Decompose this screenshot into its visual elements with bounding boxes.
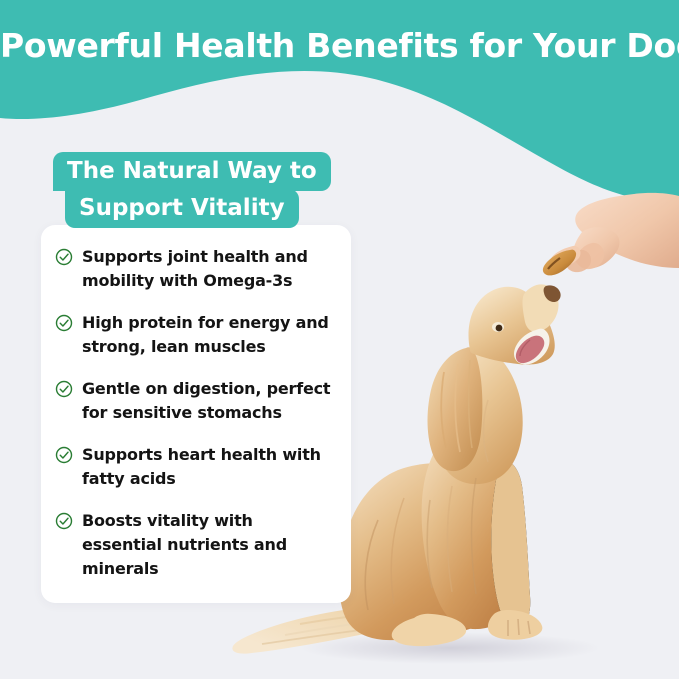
tail-strand-2 bbox=[285, 619, 398, 635]
badge-line-1: The Natural Way to bbox=[53, 152, 331, 191]
ear-strand-2 bbox=[455, 364, 460, 452]
dog-front-leg bbox=[491, 461, 530, 628]
page-title: Powerful Health Benefits for Your Dog bbox=[0, 24, 679, 68]
ear-strand-1 bbox=[441, 372, 446, 448]
dog-chest bbox=[422, 428, 525, 630]
dog-shadow bbox=[300, 632, 600, 664]
treat-detail bbox=[548, 258, 560, 269]
poster-stage: Powerful Health Benefits for Your Dog bbox=[0, 0, 679, 679]
dog-nose bbox=[544, 285, 561, 302]
list-item: Supports joint health and mobility with … bbox=[55, 245, 335, 293]
ear-strand-3 bbox=[469, 360, 472, 448]
tongue-crease bbox=[520, 340, 530, 356]
check-circle-icon bbox=[55, 248, 73, 266]
fur-strand-5 bbox=[391, 498, 404, 604]
hand-finger-2 bbox=[566, 250, 591, 272]
dog-head bbox=[469, 287, 555, 365]
dog-treat-icon bbox=[543, 250, 576, 276]
dog-tail bbox=[232, 605, 452, 653]
benefit-text: Boosts vitality with essential nutrients… bbox=[82, 509, 335, 581]
list-item: Supports heart health with fatty acids bbox=[55, 443, 335, 491]
list-item: Boosts vitality with essential nutrients… bbox=[55, 509, 335, 581]
benefits-card: Supports joint health and mobility with … bbox=[41, 225, 351, 603]
tail-strand-3 bbox=[262, 626, 400, 644]
dog-ear bbox=[428, 347, 483, 471]
fur-strand-1 bbox=[427, 500, 432, 588]
hand-thumb bbox=[550, 246, 581, 268]
fur-strand-4 bbox=[365, 520, 378, 610]
fur-strand-3 bbox=[472, 478, 477, 594]
dog-mouth bbox=[514, 329, 550, 365]
benefit-text: Gentle on digestion, perfect for sensiti… bbox=[82, 377, 335, 425]
list-item: Gentle on digestion, perfect for sensiti… bbox=[55, 377, 335, 425]
dog-rear-paw bbox=[392, 614, 466, 646]
check-circle-icon bbox=[55, 380, 73, 398]
dog-front-paw bbox=[488, 610, 542, 640]
benefit-text: Supports heart health with fatty acids bbox=[82, 443, 335, 491]
list-item: High protein for energy and strong, lean… bbox=[55, 311, 335, 359]
fur-strand-2 bbox=[448, 486, 453, 592]
dog-muzzle bbox=[522, 284, 558, 332]
fur-strand-6 bbox=[484, 400, 489, 462]
dog-tongue bbox=[516, 336, 544, 363]
paw-toes bbox=[508, 619, 530, 636]
check-circle-icon bbox=[55, 512, 73, 530]
benefits-list: Supports joint health and mobility with … bbox=[55, 245, 335, 581]
hand-knuckles bbox=[573, 227, 620, 268]
check-circle-icon bbox=[55, 446, 73, 464]
dog-neck bbox=[435, 348, 523, 484]
benefit-text: Supports joint health and mobility with … bbox=[82, 245, 335, 293]
check-circle-icon bbox=[55, 314, 73, 332]
dog-hindquarters bbox=[339, 463, 515, 640]
dog-eye-white bbox=[492, 322, 504, 332]
benefit-text: High protein for energy and strong, lean… bbox=[82, 311, 335, 359]
subtitle-badge: The Natural Way to Support Vitality bbox=[41, 152, 341, 228]
tail-strand-1 bbox=[300, 612, 400, 624]
badge-line-2: Support Vitality bbox=[65, 189, 299, 228]
dog-eye-pupil bbox=[496, 325, 503, 332]
hand-finger-1 bbox=[577, 243, 604, 269]
